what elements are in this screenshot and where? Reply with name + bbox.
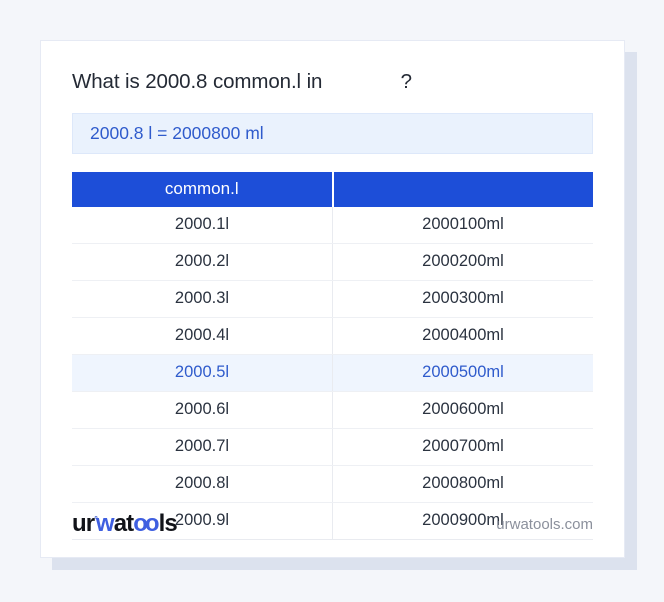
cell-to: 2000100ml bbox=[333, 207, 594, 244]
conversion-result-box: 2000.8 l = 2000800 ml bbox=[72, 113, 593, 154]
cell-to: 2000500ml bbox=[333, 354, 594, 391]
table-row[interactable]: 2000.3l 2000300ml bbox=[72, 280, 593, 317]
page-root: What is 2000.8 common.l in ? 2000.8 l = … bbox=[0, 0, 664, 602]
logo-part-w: w bbox=[96, 512, 114, 536]
table-row[interactable]: 2000.7l 2000700ml bbox=[72, 428, 593, 465]
cell-from: 2000.8l bbox=[72, 465, 333, 502]
cell-from: 2000.7l bbox=[72, 428, 333, 465]
logo-part-ur: ur bbox=[72, 512, 94, 536]
table-header-row: common.l bbox=[72, 172, 593, 207]
cell-to: 2000600ml bbox=[333, 391, 594, 428]
urwatools-logo[interactable]: ur°watools bbox=[72, 512, 177, 536]
table-row[interactable]: 2000.6l 2000600ml bbox=[72, 391, 593, 428]
conversion-result-text: 2000.8 l = 2000800 ml bbox=[90, 123, 264, 144]
cell-from: 2000.1l bbox=[72, 207, 333, 244]
logo-part-at: at bbox=[114, 512, 134, 536]
column-header-from[interactable]: common.l bbox=[72, 172, 333, 207]
cell-from: 2000.3l bbox=[72, 280, 333, 317]
page-title: What is 2000.8 common.l in ? bbox=[72, 69, 593, 95]
table-row[interactable]: 2000.4l 2000400ml bbox=[72, 317, 593, 354]
cell-from: 2000.2l bbox=[72, 243, 333, 280]
cell-to: 2000200ml bbox=[333, 243, 594, 280]
table-body: 2000.1l 2000100ml 2000.2l 2000200ml 2000… bbox=[72, 207, 593, 540]
card-footer: ur°watools urwatools.com bbox=[72, 509, 593, 539]
table-row[interactable]: 2000.2l 2000200ml bbox=[72, 243, 593, 280]
table-row-highlighted[interactable]: 2000.5l 2000500ml bbox=[72, 354, 593, 391]
card-content: What is 2000.8 common.l in ? 2000.8 l = … bbox=[41, 41, 624, 540]
cell-from: 2000.4l bbox=[72, 317, 333, 354]
logo-part-ls: ls bbox=[159, 512, 177, 536]
cell-to: 2000800ml bbox=[333, 465, 594, 502]
degree-icon: ° bbox=[94, 515, 97, 524]
table-row[interactable]: 2000.8l 2000800ml bbox=[72, 465, 593, 502]
table-row[interactable]: 2000.1l 2000100ml bbox=[72, 207, 593, 244]
column-header-to[interactable] bbox=[333, 172, 594, 207]
conversion-table: common.l 2000.1l 2000100ml 2000.2l 20002… bbox=[72, 172, 593, 540]
cell-from: 2000.5l bbox=[72, 354, 333, 391]
cell-to: 2000300ml bbox=[333, 280, 594, 317]
table-header: common.l bbox=[72, 172, 593, 207]
converter-card: What is 2000.8 common.l in ? 2000.8 l = … bbox=[40, 40, 625, 558]
logo-glasses-icon: oo bbox=[133, 512, 156, 536]
site-url-label: urwatools.com bbox=[496, 516, 593, 533]
cell-to: 2000700ml bbox=[333, 428, 594, 465]
cell-to: 2000400ml bbox=[333, 317, 594, 354]
cell-from: 2000.6l bbox=[72, 391, 333, 428]
